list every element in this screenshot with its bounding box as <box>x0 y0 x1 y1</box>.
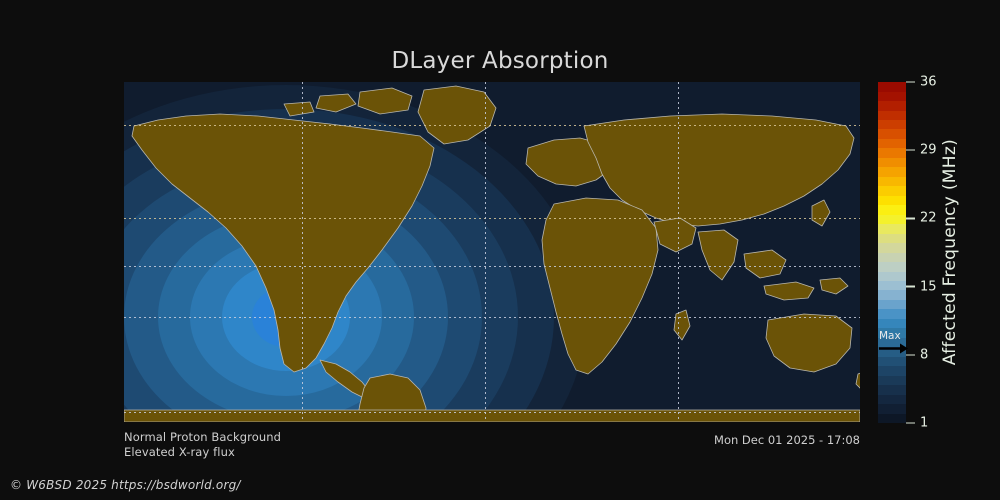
colorbar-band-22 <box>878 205 906 214</box>
tick-dash <box>906 354 915 356</box>
colorbar-band-14 <box>878 281 906 290</box>
colorbar-band-0 <box>878 414 906 423</box>
tick-dash <box>906 286 915 288</box>
colorbar-tick-15: 15 <box>906 280 937 293</box>
colorbar-band-20 <box>878 224 906 233</box>
tick-dash <box>906 149 915 151</box>
tick-label: 22 <box>920 212 937 225</box>
colorbar-tick-29: 29 <box>906 144 937 157</box>
colorbar-band-19 <box>878 234 906 243</box>
colorbar-band-5 <box>878 366 906 375</box>
colorbar-band-1 <box>878 404 906 413</box>
colorbar-title-label: Affected Frequency (MHz) <box>940 139 960 365</box>
colorbar-band-12 <box>878 300 906 309</box>
colorbar-band-28 <box>878 148 906 157</box>
figure-canvas: DLayer Absorption <box>0 0 1000 500</box>
colorbar-band-7 <box>878 347 906 356</box>
colorbar-band-35 <box>878 82 906 91</box>
colorbar-band-24 <box>878 186 906 195</box>
colorbar-band-3 <box>878 385 906 394</box>
colorbar-band-6 <box>878 357 906 366</box>
xray-status-text: Elevated X-ray flux <box>124 445 235 459</box>
colorbar-band-29 <box>878 139 906 148</box>
colorbar-band-13 <box>878 290 906 299</box>
tick-label: 29 <box>920 144 937 157</box>
colorbar-band-11 <box>878 309 906 318</box>
page-title: DLayer Absorption <box>0 48 1000 74</box>
colorbar-tick-8: 8 <box>906 348 928 361</box>
tick-dash <box>906 218 915 220</box>
tick-label: 8 <box>920 348 928 361</box>
colorbar-band-8 <box>878 338 906 347</box>
colorbar-band-15 <box>878 272 906 281</box>
colorbar-title: Affected Frequency (MHz) <box>938 82 962 423</box>
colorbar-band-31 <box>878 120 906 129</box>
copyright-text: © W6BSD 2025 https://bsdworld.org/ <box>10 478 241 492</box>
timestamp-text: Mon Dec 01 2025 - 17:08 <box>714 433 860 447</box>
colorbar-tick-1: 1 <box>906 417 928 430</box>
colorbar-band-34 <box>878 92 906 101</box>
colorbar[interactable] <box>878 82 906 423</box>
tick-label: 15 <box>920 280 937 293</box>
colorbar-band-16 <box>878 262 906 271</box>
colorbar-band-21 <box>878 215 906 224</box>
colorbar-band-23 <box>878 196 906 205</box>
tick-label: 1 <box>920 417 928 430</box>
tick-dash <box>906 422 915 424</box>
colorbar-tick-36: 36 <box>906 76 937 89</box>
colorbar-band-10 <box>878 319 906 328</box>
colorbar-band-9 <box>878 328 906 337</box>
colorbar-band-2 <box>878 395 906 404</box>
colorbar-band-17 <box>878 253 906 262</box>
colorbar-tick-22: 22 <box>906 212 937 225</box>
colorbar-band-25 <box>878 177 906 186</box>
colorbar-band-33 <box>878 101 906 110</box>
world-map-axes[interactable] <box>124 82 860 422</box>
colorbar-gradient <box>878 82 906 423</box>
tick-dash <box>906 81 915 83</box>
tick-label: 36 <box>920 76 937 89</box>
proton-status-text: Normal Proton Background <box>124 430 281 444</box>
colorbar-band-32 <box>878 111 906 120</box>
colorbar-band-30 <box>878 129 906 138</box>
colorbar-band-26 <box>878 167 906 176</box>
colorbar-band-27 <box>878 158 906 167</box>
colorbar-band-4 <box>878 376 906 385</box>
colorbar-band-18 <box>878 243 906 252</box>
continent-outlines <box>124 82 860 422</box>
